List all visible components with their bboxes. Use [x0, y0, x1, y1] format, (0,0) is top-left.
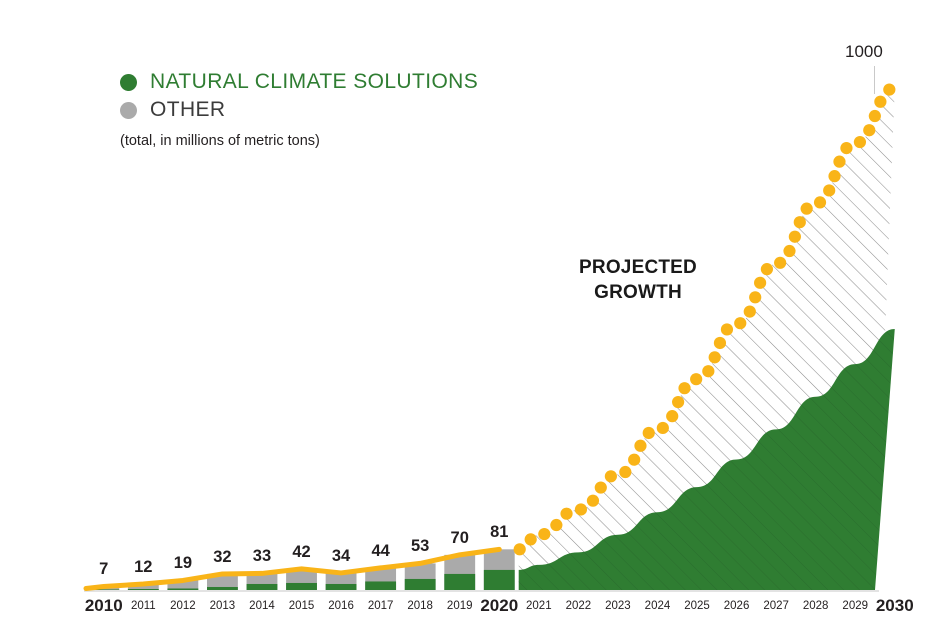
projection-dot — [828, 170, 840, 182]
projection-dot — [525, 533, 537, 545]
bar-segment-natural-climate-solutions — [128, 589, 159, 590]
projection-dot — [605, 470, 617, 482]
x-axis-tick-2027: 2027 — [763, 600, 789, 612]
x-axis-tick-2024: 2024 — [645, 600, 671, 612]
projection-dot — [749, 291, 761, 303]
projection-dot — [587, 495, 599, 507]
x-axis-tick-2014: 2014 — [249, 600, 275, 612]
projection-dot — [514, 543, 526, 555]
projection-dot — [560, 508, 572, 520]
projection-dot — [883, 83, 895, 95]
x-axis-tick-2029: 2029 — [842, 600, 868, 612]
bar-segment-natural-climate-solutions — [444, 574, 475, 590]
projection-dot — [754, 277, 766, 289]
bar-segment-natural-climate-solutions — [365, 581, 396, 590]
projection-dot — [823, 184, 835, 196]
x-axis-tick-2021: 2021 — [526, 600, 552, 612]
projection-dot — [678, 382, 690, 394]
projection-dot — [863, 124, 875, 136]
bar-value-label: 19 — [174, 554, 192, 573]
bar-value-label: 53 — [411, 537, 429, 556]
bar-value-label: 70 — [451, 529, 469, 548]
projection-dot — [814, 196, 826, 208]
x-axis-tick-2030: 2030 — [876, 596, 914, 616]
projection-dot — [794, 216, 806, 228]
projection-dot — [550, 519, 562, 531]
bar-value-label: 42 — [292, 543, 310, 562]
x-axis-tick-2017: 2017 — [368, 600, 394, 612]
projection-dot — [702, 365, 714, 377]
projection-dot — [634, 440, 646, 452]
projection-dot — [801, 203, 813, 215]
projection-dot — [672, 396, 684, 408]
x-axis-tick-2019: 2019 — [447, 600, 473, 612]
projection-dot — [538, 528, 550, 540]
x-axis-tick-2011: 2011 — [131, 600, 156, 612]
x-axis-tick-2028: 2028 — [803, 600, 829, 612]
projection-dot — [666, 410, 678, 422]
projection-dot — [874, 96, 886, 108]
bar-value-label: 32 — [213, 548, 231, 567]
projection-dot — [789, 231, 801, 243]
x-axis-tick-2018: 2018 — [407, 600, 433, 612]
projection-dot — [657, 422, 669, 434]
x-axis-tick-2012: 2012 — [170, 600, 196, 612]
projection-dot — [744, 306, 756, 318]
projection-dot — [761, 263, 773, 275]
projection-dot — [643, 427, 655, 439]
projection-dot — [628, 454, 640, 466]
projection-dot — [774, 257, 786, 269]
projection-dot — [709, 351, 721, 363]
projection-dot — [833, 156, 845, 168]
projection-dot — [721, 323, 733, 335]
projection-dot — [619, 466, 631, 478]
projection-dot — [869, 110, 881, 122]
bar-segment-natural-climate-solutions — [484, 570, 515, 590]
x-axis-tick-2010: 2010 — [85, 596, 123, 616]
projection-dot — [734, 317, 746, 329]
projection-dot — [854, 136, 866, 148]
projection-dot — [840, 142, 852, 154]
bar-segment-natural-climate-solutions — [326, 584, 357, 590]
x-axis-tick-2013: 2013 — [210, 600, 236, 612]
bar-segment-natural-climate-solutions — [207, 587, 238, 590]
x-axis-tick-2020: 2020 — [480, 596, 518, 616]
projection-dot — [783, 245, 795, 257]
projection-dot — [690, 373, 702, 385]
bar-value-label: 44 — [371, 542, 389, 561]
bar-segment-natural-climate-solutions — [286, 583, 317, 590]
x-axis-tick-2016: 2016 — [328, 600, 354, 612]
x-axis-tick-2023: 2023 — [605, 600, 631, 612]
x-axis: 2010201120122013201420152016201720182019… — [0, 596, 925, 626]
bar-value-label: 7 — [99, 560, 108, 579]
x-axis-tick-2022: 2022 — [566, 600, 592, 612]
x-axis-tick-2025: 2025 — [684, 600, 710, 612]
bar-value-label: 12 — [134, 558, 152, 577]
projection-dot — [714, 337, 726, 349]
bar-value-label: 33 — [253, 547, 271, 566]
projection-dot — [575, 503, 587, 515]
projection-dot — [595, 481, 607, 493]
bar-value-label: 34 — [332, 547, 350, 566]
bar-segment-natural-climate-solutions — [167, 588, 198, 590]
bar-segment-natural-climate-solutions — [405, 579, 436, 590]
bar-segment-natural-climate-solutions — [247, 584, 278, 590]
x-axis-tick-2026: 2026 — [724, 600, 750, 612]
x-axis-tick-2015: 2015 — [289, 600, 315, 612]
bar-value-label: 81 — [490, 523, 508, 542]
